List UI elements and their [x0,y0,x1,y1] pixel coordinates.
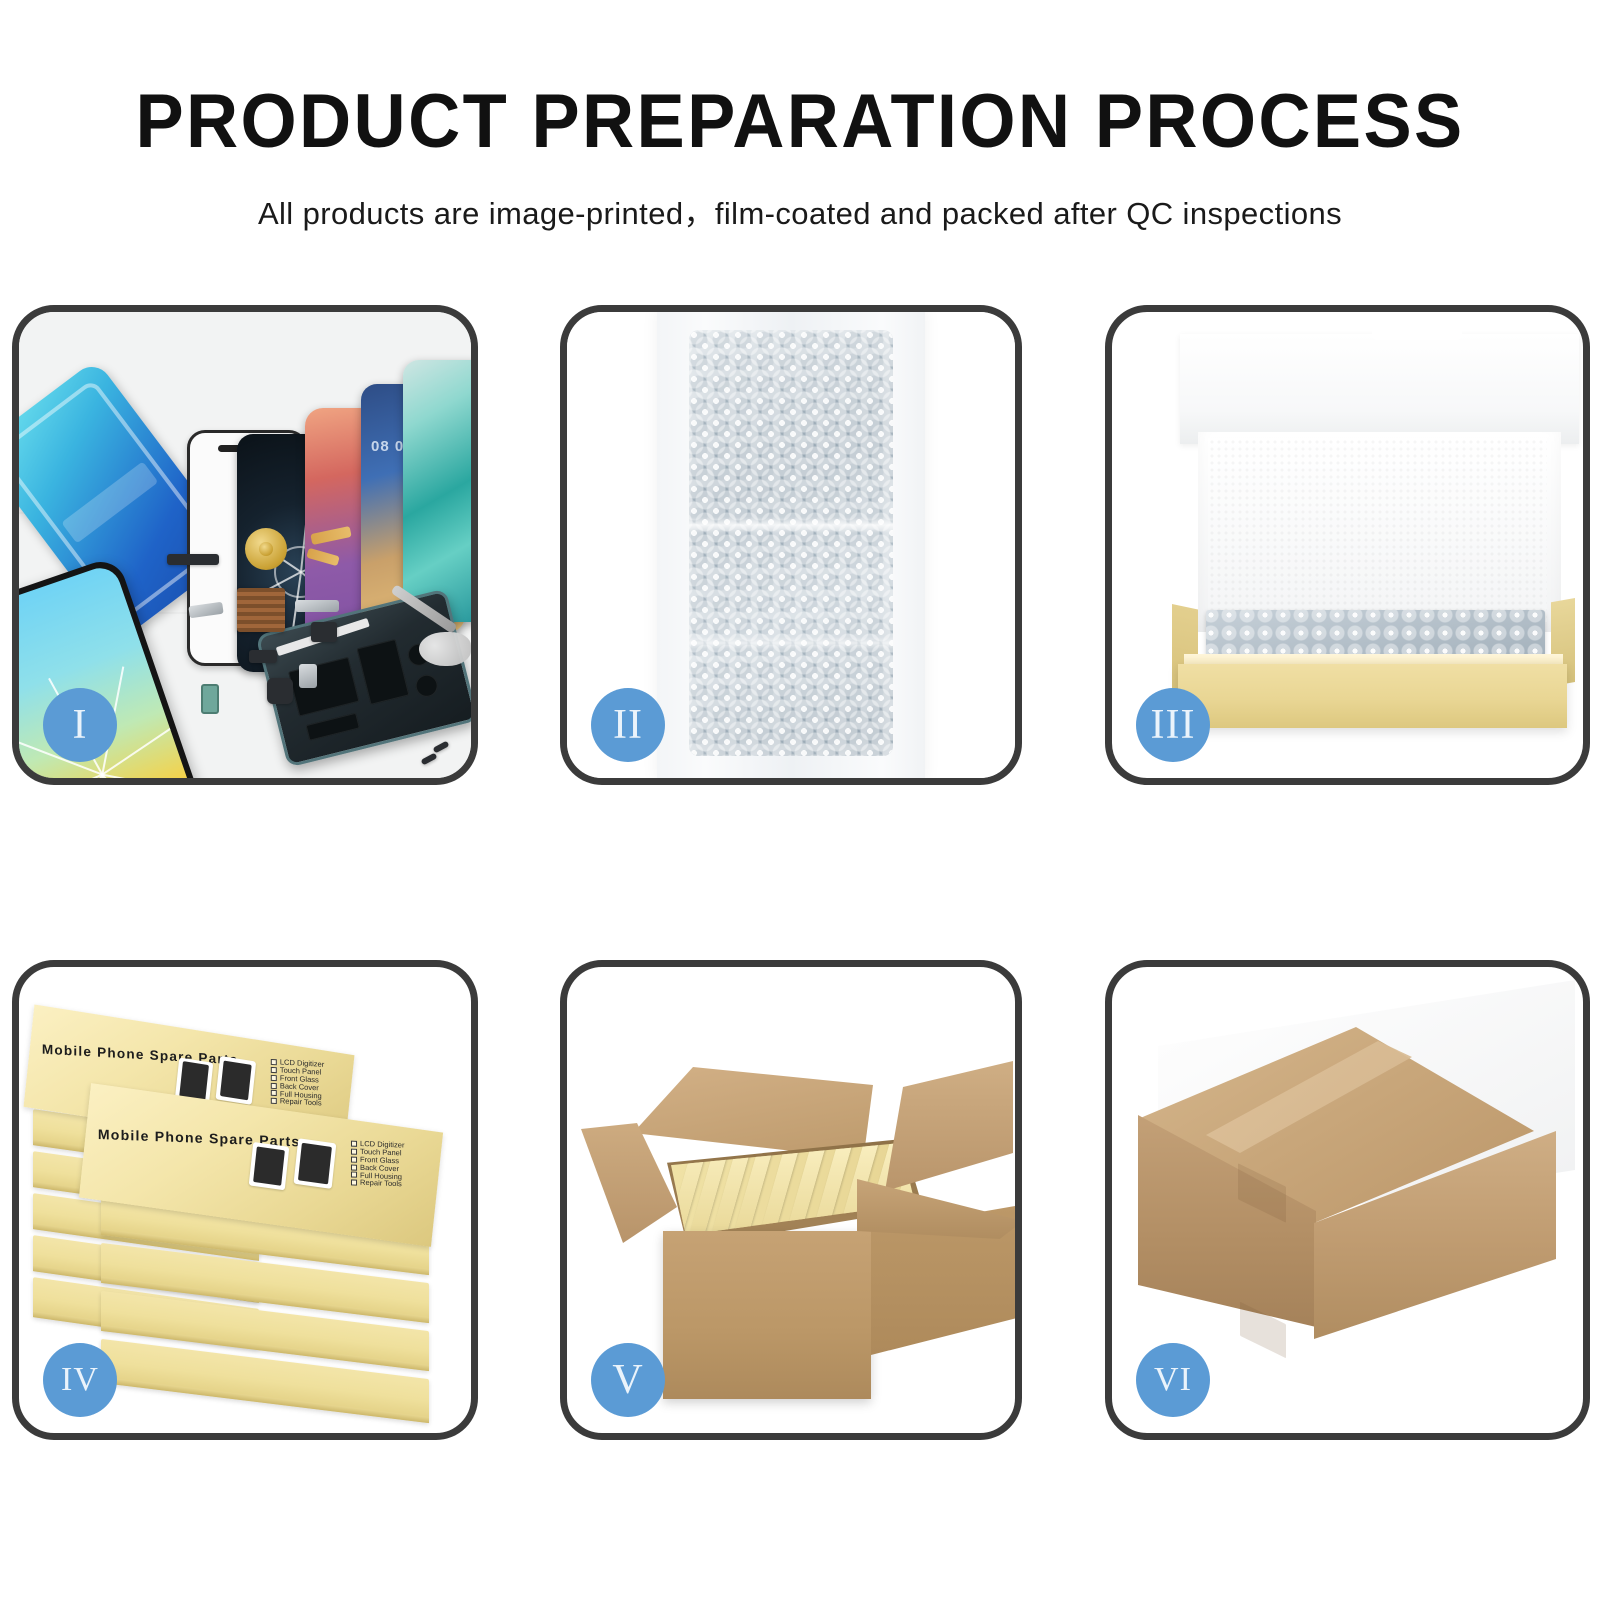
process-step-panel-1[interactable]: 08 08 [12,305,478,785]
header: PRODUCT PREPARATION PROCESS All products… [0,0,1600,233]
carton-flap-right [885,1061,1013,1191]
bubble-wrapped-item [689,330,893,756]
process-step-panel-2[interactable]: II [560,305,1022,785]
box-tray-front [1178,664,1567,728]
step-badge-5: V [591,1343,665,1417]
bubble-highlights [689,330,893,756]
component-sim-tray [201,684,219,714]
foam-padding-sheet [1208,438,1547,622]
retail-box-thumb-1b [216,1056,257,1105]
retail-box-checklist-1: LCD Digitizer Touch Panel Front Glass Ba… [271,1058,324,1108]
component-battery-connector [249,650,277,663]
checklist-item: Repair Tools [280,1098,322,1108]
step-badge-6: VI [1136,1343,1210,1417]
component-vibrator [299,664,317,688]
product-process-infographic: PRODUCT PREPARATION PROCESS All products… [0,0,1600,1600]
process-step-panel-6[interactable]: VI [1105,960,1590,1440]
film-sheen-2 [689,637,893,649]
retail-box-checklist-2: LCD Digitizer Touch Panel Front Glass Ba… [351,1140,404,1189]
step-badge-1: I [43,688,117,762]
component-flex-bracket [311,622,337,642]
carton-front-face [663,1231,871,1399]
retail-box-thumb-2b [294,1138,337,1189]
process-step-panel-3[interactable]: III [1105,305,1590,785]
box-lid-flap [1180,334,1579,444]
carton-flap-left [581,1123,677,1243]
process-step-panel-5[interactable]: V [560,960,1022,1440]
component-ic-chip [237,588,285,632]
brush-tool [419,632,471,666]
step-badge-2: II [591,688,665,762]
checklist-item: Repair Tools [360,1179,402,1188]
component-speaker-mesh [167,554,219,565]
teal-phone-display [403,360,471,622]
step-badge-3: III [1136,688,1210,762]
film-sheen-1 [689,517,893,533]
carton-flap-back [633,1067,873,1159]
component-coil-center [259,542,273,556]
component-connector-2 [295,600,339,612]
page-title: PRODUCT PREPARATION PROCESS [40,84,1560,160]
page-subtitle: All products are image-printed，film-coat… [0,188,1600,233]
process-step-panel-4[interactable]: Mobile Phone Spare Parts LCD Digitizer T… [12,960,478,1440]
step-badge-4: IV [43,1343,117,1417]
carton-flap-front [857,1179,1015,1239]
retail-box-thumb-2a [249,1142,290,1190]
component-camera-module [267,678,293,704]
